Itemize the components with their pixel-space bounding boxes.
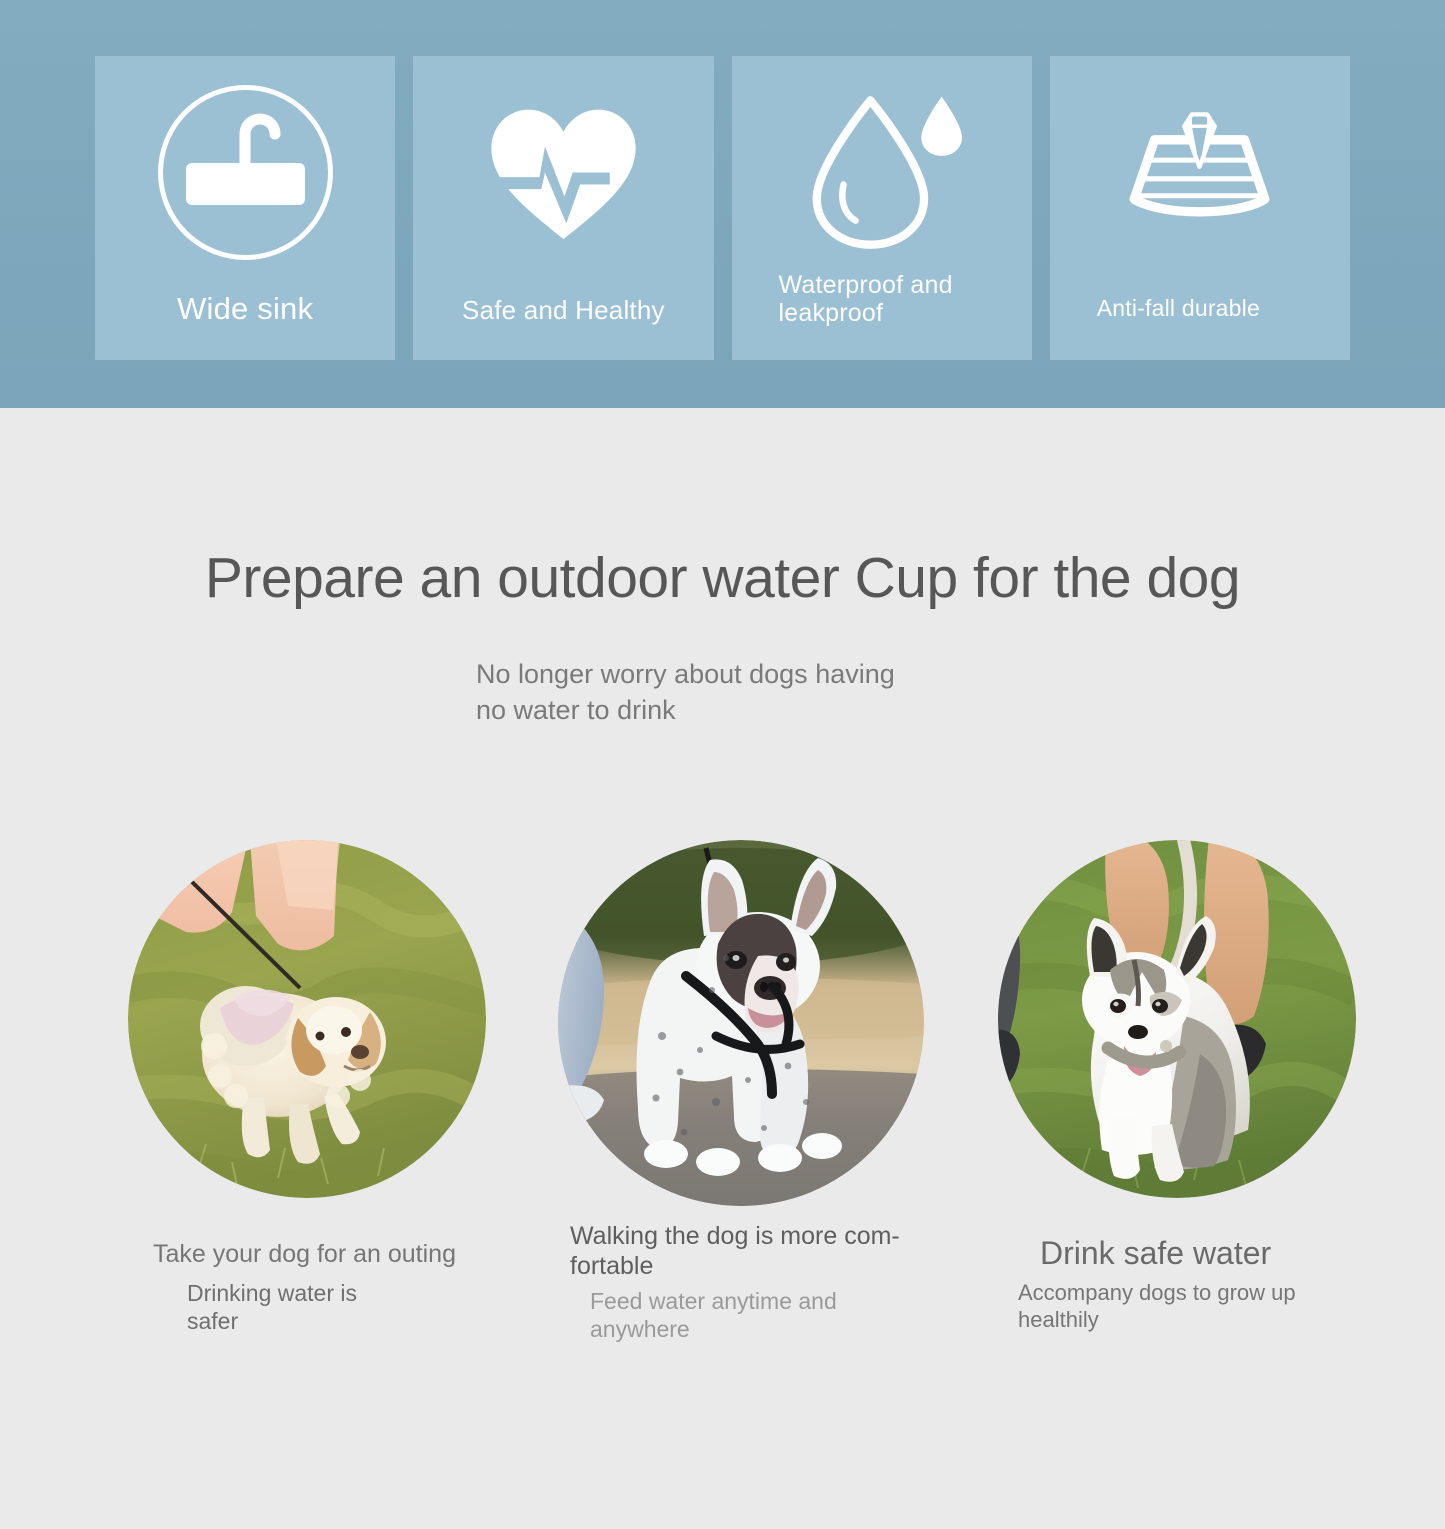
diamond-shield-icon xyxy=(1102,92,1297,252)
feature-panel-list: Wide sink Safe and Healthy xyxy=(95,56,1350,360)
feature-label-anti-fall: Anti-fall durable xyxy=(1050,296,1350,322)
card-title-line-1: Walking the dog is more com- xyxy=(570,1222,900,1252)
feature-label-wide-sink: Wide sink xyxy=(95,292,395,327)
feature-panel-anti-fall[interactable]: Anti-fall durable xyxy=(1050,56,1350,360)
card-subtitle-line-1: Feed water anytime and xyxy=(590,1287,900,1315)
card-subtitle-line-2: anywhere xyxy=(590,1315,900,1343)
water-drop-icon xyxy=(789,80,974,265)
card-outing: Take your dog for an outing Drinking wat… xyxy=(128,840,486,1198)
card-list: Take your dog for an outing Drinking wat… xyxy=(0,408,1445,1529)
product-feature-page: Wide sink Safe and Healthy xyxy=(0,0,1445,1529)
card-title: Drink safe water xyxy=(1018,1235,1348,1273)
feature-panel-safe-healthy[interactable]: Safe and Healthy xyxy=(413,56,713,360)
sink-icon xyxy=(153,80,338,265)
diamond-shield-icon-wrap xyxy=(1050,82,1350,262)
card-safe-water: Drink safe water Accompany dogs to grow … xyxy=(998,840,1356,1198)
water-drop-icon-wrap xyxy=(732,82,1032,262)
card-subtitle-line-2: healthily xyxy=(1018,1307,1348,1334)
card-subtitle-line-2: safer xyxy=(187,1307,493,1335)
card-caption-safe-water: Drink safe water Accompany dogs to grow … xyxy=(1018,1235,1348,1333)
card-subtitle-line-1: Drinking water is xyxy=(187,1279,493,1307)
card-title: Walking the dog is more com- fortable xyxy=(570,1222,900,1281)
photo-small-dog-on-grass xyxy=(128,840,486,1198)
card-caption-outing: Take your dog for an outing Drinking wat… xyxy=(153,1240,493,1335)
feature-label-waterproof: Waterproof and leakproof xyxy=(732,271,1032,327)
card-subtitle-line-1: Accompany dogs to grow up xyxy=(1018,1280,1348,1307)
photo-french-bulldog-on-path xyxy=(558,840,924,1206)
card-subtitle: Drinking water is safer xyxy=(153,1270,493,1335)
card-title: Take your dog for an outing xyxy=(153,1240,493,1270)
card-walking: Walking the dog is more com- fortable Fe… xyxy=(558,840,924,1206)
card-subtitle: Accompany dogs to grow up healthily xyxy=(1018,1273,1348,1334)
feature-panel-waterproof[interactable]: Waterproof and leakproof xyxy=(732,56,1032,360)
card-title-line-2: fortable xyxy=(570,1252,900,1282)
feature-label-safe-healthy: Safe and Healthy xyxy=(413,296,713,325)
main-section: Prepare an outdoor water Cup for the dog… xyxy=(0,408,1445,1529)
heart-pulse-icon xyxy=(471,80,656,265)
feature-band: Wide sink Safe and Healthy xyxy=(0,0,1445,408)
feature-panel-wide-sink[interactable]: Wide sink xyxy=(95,56,395,360)
card-caption-walking: Walking the dog is more com- fortable Fe… xyxy=(570,1222,900,1343)
sink-icon-wrap xyxy=(95,82,395,262)
photo-husky-sitting-on-grass xyxy=(998,840,1356,1198)
card-subtitle: Feed water anytime and anywhere xyxy=(570,1281,900,1343)
heart-pulse-icon-wrap xyxy=(413,82,713,262)
